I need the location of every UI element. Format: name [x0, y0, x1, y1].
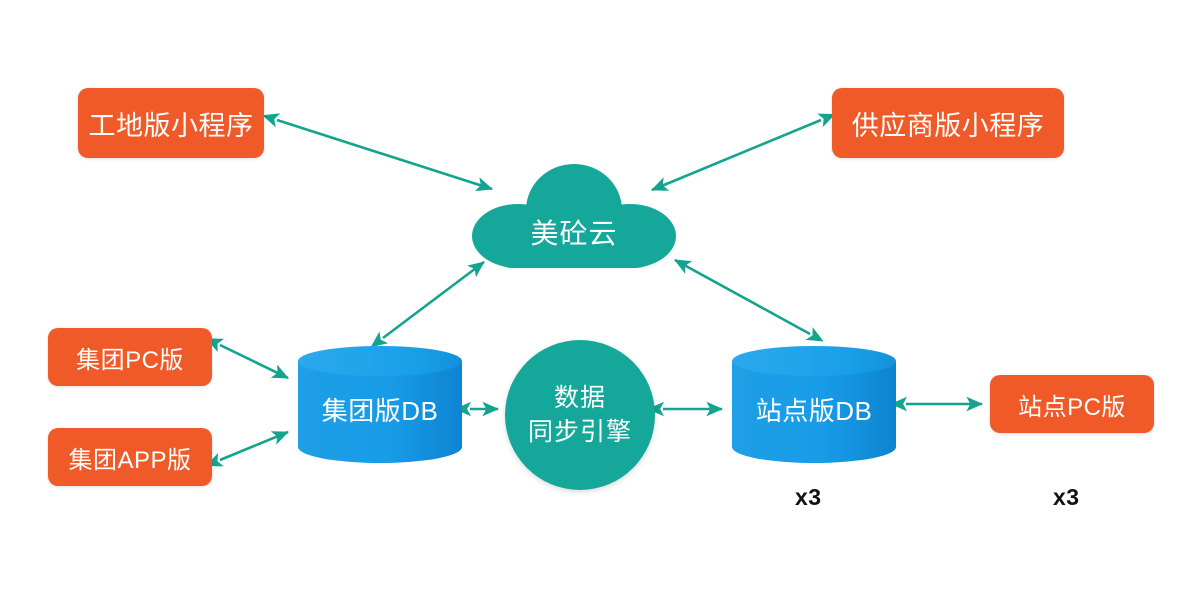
node-cloud[interactable]: 美砼云 — [468, 158, 680, 270]
node-db-site[interactable]: 站点版DB — [730, 345, 898, 463]
node-group-pc-label: 集团PC版 — [76, 340, 184, 375]
connector-cloud-to-db-group — [383, 262, 484, 338]
node-db-site-label: 站点版DB — [730, 391, 898, 428]
node-sync-engine[interactable]: 数据 同步引擎 — [505, 340, 655, 490]
node-group-pc[interactable]: 集团PC版 — [48, 328, 212, 386]
node-supplier-mini-program-label: 供应商版小程序 — [852, 104, 1045, 143]
node-db-group[interactable]: 集团版DB — [296, 345, 464, 463]
node-supplier-mini-program[interactable]: 供应商版小程序 — [832, 88, 1064, 158]
connector-group-app-to-db-group — [220, 432, 288, 460]
architecture-diagram: 工地版小程序 供应商版小程序 集团PC版 集团APP版 站点PC版 美砼云 数据… — [0, 0, 1200, 600]
connector-cloud-to-db-site — [675, 260, 810, 334]
node-db-group-label: 集团版DB — [296, 391, 464, 428]
node-group-app[interactable]: 集团APP版 — [48, 428, 212, 486]
node-group-app-label: 集团APP版 — [68, 440, 191, 475]
node-cloud-label: 美砼云 — [468, 212, 680, 252]
multiplier-label-db-site: x3 — [795, 484, 822, 511]
connector-group-pc-to-db-group — [220, 345, 288, 378]
node-sync-engine-label-line1: 数据 — [554, 381, 606, 415]
multiplier-label-site-pc: x3 — [1053, 484, 1080, 511]
node-site-mini-program[interactable]: 工地版小程序 — [78, 88, 264, 158]
node-site-pc[interactable]: 站点PC版 — [990, 375, 1154, 433]
node-site-pc-label: 站点PC版 — [1018, 387, 1126, 422]
connector-cloud-to-site-mini — [277, 120, 492, 189]
node-sync-engine-label-line2: 同步引擎 — [528, 415, 632, 449]
node-site-mini-program-label: 工地版小程序 — [89, 104, 254, 143]
